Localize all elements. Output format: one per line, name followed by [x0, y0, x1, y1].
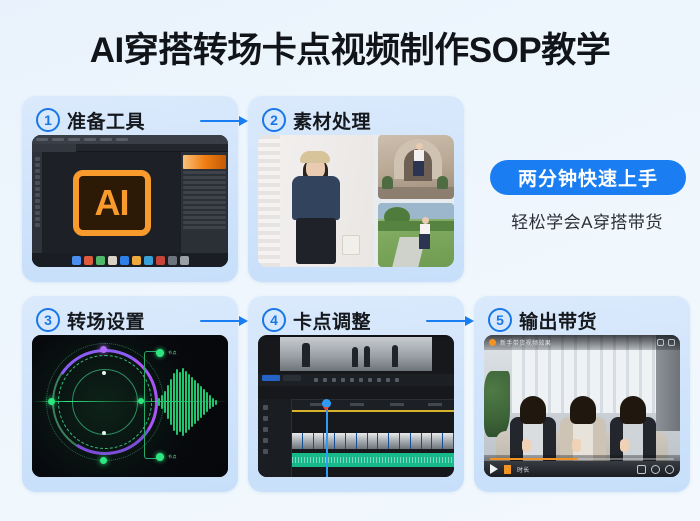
wave-bar [158, 398, 160, 406]
tool-icon [35, 169, 40, 173]
dock-app-icon [72, 256, 81, 265]
presenter-head [523, 399, 543, 422]
model-tote-bag [342, 235, 360, 255]
illustrator-window: AI [32, 135, 228, 267]
step-header-1: 1 准备工具 [32, 105, 228, 135]
filmstrip-frame [378, 433, 389, 449]
indoor-plant [484, 371, 510, 437]
presenter-hair [620, 396, 646, 424]
wave-bar [164, 391, 166, 413]
radar-node-bottom [100, 457, 107, 464]
waveform-node-bottom-label: 节点 [168, 454, 177, 460]
panel-row [183, 176, 226, 179]
ruler-tick [428, 403, 442, 406]
wave-bar [188, 374, 190, 430]
wave-bar [161, 395, 163, 409]
toolbar-icon[interactable] [386, 378, 390, 382]
wave-bar [173, 373, 175, 431]
ruler-tick [350, 403, 364, 406]
more-options-icon[interactable] [668, 339, 675, 346]
presenter-left [510, 399, 556, 463]
radar-marker [102, 431, 106, 435]
step-thumbnail-3: 节点 节点 [32, 335, 228, 477]
illustrator-toolbar [32, 152, 43, 253]
dock-app-icon [108, 256, 117, 265]
model-hat [300, 151, 330, 163]
step-card-2[interactable]: 2 素材处理 [248, 96, 464, 282]
figure-top [414, 150, 424, 161]
figure-skirt [419, 234, 430, 249]
thumbs-up-icon [572, 439, 581, 452]
silhouette [352, 347, 358, 367]
player-title: 新手带货视频效果 [500, 338, 551, 347]
step-number-5: 5 [488, 308, 512, 332]
potted-plant [437, 176, 448, 189]
illustrator-panels [180, 152, 228, 253]
audio-track-clip[interactable] [292, 453, 454, 467]
track-toggle-icon[interactable] [263, 416, 268, 421]
editor-preview-monitor [280, 337, 432, 371]
step-header-3: 3 转场设置 [32, 305, 228, 335]
tool-icon [35, 187, 40, 191]
wave-bar [203, 389, 205, 415]
beat-marker-icon [323, 407, 329, 411]
tool-icon [35, 193, 40, 197]
panel-row [183, 196, 226, 199]
filmstrip-frame [314, 433, 325, 449]
wave-bar [206, 392, 208, 412]
track-toggle-icon[interactable] [263, 427, 268, 432]
silhouette [302, 343, 310, 367]
player-top-icons[interactable] [657, 339, 675, 346]
thumbs-up-icon [522, 439, 531, 452]
progress-bar[interactable] [490, 458, 674, 460]
panel-row [183, 211, 226, 214]
arrow-step1-to-step2 [200, 115, 248, 127]
filmstrip-frame [400, 433, 411, 449]
dock-app-icon [168, 256, 177, 265]
presenter-right [610, 399, 656, 463]
waveform-node-top [156, 349, 164, 357]
step-header-5: 5 输出带货 [484, 305, 680, 335]
toolbar-icon[interactable] [332, 378, 336, 382]
time-label: 时长 [517, 465, 530, 474]
wave-bar [212, 398, 214, 407]
tool-icon [35, 175, 40, 179]
waveform-node-top-label: 节点 [168, 350, 177, 356]
outfit-photo-main [258, 135, 374, 267]
step-card-5[interactable]: 5 输出带货 [474, 296, 690, 492]
arrow-shaft [200, 320, 240, 322]
outfit-photo-architecture [378, 135, 454, 199]
step-label-2: 素材处理 [293, 107, 371, 134]
menu-item-glyph [84, 138, 96, 141]
tool-icon [35, 199, 40, 203]
arrow-head [239, 116, 248, 126]
document-tab [32, 144, 76, 152]
dock-app-icon [120, 256, 129, 265]
wave-bar [182, 368, 184, 436]
filmstrip-frame [368, 433, 379, 449]
step-label-4: 卡点调整 [293, 307, 371, 334]
figure-skirt [413, 161, 424, 176]
presenter-center [560, 399, 606, 463]
settings-icon[interactable] [637, 465, 646, 474]
illustrator-tabbar [32, 144, 228, 152]
step-header-2: 2 素材处理 [258, 105, 454, 135]
step-label-3: 转场设置 [67, 307, 145, 334]
toolbar-icon[interactable] [359, 378, 363, 382]
dock-app-icon [84, 256, 93, 265]
video-player[interactable]: 新手带货视频效果 时长 [484, 335, 680, 477]
radar-node-top [100, 346, 107, 353]
ruler-tick [390, 403, 404, 406]
model-figure [420, 217, 430, 249]
figure-head [422, 217, 429, 224]
menu-item-glyph [36, 138, 48, 141]
panel-row [183, 186, 226, 189]
dock-trash-icon [180, 256, 189, 265]
app-logo-icon [489, 339, 496, 346]
arrow-head [239, 316, 248, 326]
tool-icon [35, 217, 40, 221]
callout-subtitle: 轻松学会A穿搭带货 [474, 208, 700, 233]
track-header-panel[interactable] [258, 399, 292, 477]
wave-bar [170, 379, 172, 425]
step-thumbnail-4 [258, 335, 454, 477]
panel-row [183, 191, 226, 194]
wave-bar [194, 380, 196, 424]
video-track-clip[interactable] [292, 433, 454, 449]
pause-icon[interactable] [504, 465, 511, 474]
arrow-step3-to-step4 [200, 315, 248, 327]
wave-bar [185, 371, 187, 433]
panel-row [183, 216, 226, 219]
arrow-shaft [200, 120, 240, 122]
audio-waveform [158, 365, 224, 439]
arrow-head [465, 316, 474, 326]
radar-marker [102, 371, 106, 375]
model-figure [414, 143, 424, 179]
radar-node-left [48, 398, 55, 405]
step-thumbnail-2 [258, 135, 454, 267]
illustrator-canvas: AI [43, 152, 180, 253]
toolbar-icon[interactable] [314, 378, 318, 382]
step-number-3: 3 [36, 308, 60, 332]
tool-icon [35, 211, 40, 215]
step-number-2: 2 [262, 108, 286, 132]
waveform-node-bottom [156, 453, 164, 461]
toolbar-icon[interactable] [377, 378, 381, 382]
track-toggle-icon[interactable] [263, 405, 268, 410]
panel-row [183, 206, 226, 209]
dock-app-icon [132, 256, 141, 265]
fullscreen-icon[interactable] [665, 465, 674, 474]
step-label-5: 输出带货 [519, 307, 597, 334]
gradient-swatch [183, 155, 226, 169]
filmstrip-frame [303, 433, 314, 449]
outfit-photo-side-column [378, 135, 454, 267]
figure-top [420, 224, 430, 234]
panel-row [183, 201, 226, 204]
wave-bar [209, 395, 211, 409]
step-number-4: 4 [262, 308, 286, 332]
presenter-head [573, 399, 593, 422]
tool-icon [35, 157, 40, 161]
timeline-playhead[interactable] [326, 403, 328, 477]
wave-bar [179, 372, 181, 432]
filmstrip-frame [292, 433, 303, 449]
editor-tab[interactable] [283, 375, 301, 381]
step-thumbnail-1: AI [32, 135, 228, 267]
presenter-hair [520, 396, 546, 424]
arrow-shaft [426, 320, 466, 322]
progress-fill [490, 458, 578, 460]
macos-dock [32, 253, 228, 267]
filmstrip-frame [422, 433, 433, 449]
arrow-step4-to-step5 [426, 315, 474, 327]
illustrator-logo: AI [73, 170, 151, 236]
wave-bar [176, 369, 178, 435]
presenter-head [623, 399, 643, 422]
hedge [378, 221, 454, 231]
step-header-4: 4 卡点调整 [258, 305, 454, 335]
page-title: AI穿搭转场卡点视频制作SOP教学 [0, 22, 700, 73]
player-controls[interactable]: 时长 [484, 455, 680, 477]
wave-bar [200, 386, 202, 418]
wave-bar [191, 377, 193, 427]
menu-item-glyph [116, 138, 128, 141]
toolbar-icon[interactable] [395, 378, 399, 382]
silhouette [392, 345, 398, 367]
tool-icon [35, 205, 40, 209]
editor-tab-active[interactable] [262, 375, 280, 381]
step-number-1: 1 [36, 108, 60, 132]
filmstrip-frame [389, 433, 400, 449]
filmstrip-frame [411, 433, 422, 449]
thumbs-up-icon [620, 439, 629, 452]
illustrator-body: AI [32, 152, 228, 253]
panel-row [183, 226, 226, 229]
track-toggle-icon[interactable] [263, 438, 268, 443]
photo-backdrop [258, 135, 280, 267]
dock-app-icon [96, 256, 105, 265]
tool-icon [35, 223, 40, 227]
radar-ring-inner [72, 369, 138, 435]
filmstrip-frame [443, 433, 454, 449]
audio-waveform-strip [292, 457, 454, 463]
menu-item-glyph [68, 138, 80, 141]
step-label-1: 准备工具 [67, 107, 145, 134]
silhouette [364, 346, 370, 367]
menu-item-glyph [52, 138, 64, 141]
play-icon[interactable] [490, 464, 498, 474]
timeline-marker-line [292, 410, 454, 412]
outfit-photo-garden [378, 203, 454, 267]
toolbar-icon[interactable] [341, 378, 345, 382]
potted-plant [382, 176, 393, 189]
filmstrip-frame [335, 433, 346, 449]
dock-app-icon [156, 256, 165, 265]
step-thumbnail-5: 新手带货视频效果 时长 [484, 335, 680, 477]
editor-tab-row[interactable] [262, 375, 301, 381]
presenter-hair [570, 396, 596, 424]
illustrator-menubar [32, 135, 228, 144]
model-trousers [296, 218, 336, 264]
toolbar-icon[interactable] [368, 378, 372, 382]
player-topbar: 新手带货视频效果 [484, 335, 680, 350]
menu-item-glyph [100, 138, 112, 141]
dock-app-icon [144, 256, 153, 265]
figure-head [416, 143, 423, 150]
filmstrip-frame [357, 433, 368, 449]
wave-bar [215, 400, 217, 405]
panel-row [183, 221, 226, 224]
toolbar-icon[interactable] [350, 378, 354, 382]
highlight-badge: 两分钟快速上手 [490, 160, 686, 195]
toolbar-icon[interactable] [323, 378, 327, 382]
video-editor-window [258, 337, 454, 477]
wave-bar [197, 383, 199, 421]
transition-radar-graphic: 节点 节点 [32, 335, 228, 477]
wave-bar [167, 385, 169, 419]
filmstrip-frame [346, 433, 357, 449]
like-icon[interactable] [651, 465, 660, 474]
tool-icon [35, 181, 40, 185]
model-jacket [292, 176, 340, 220]
player-right-controls[interactable] [637, 465, 674, 474]
panel-row [183, 181, 226, 184]
outfit-photo-grid [258, 135, 454, 267]
share-icon[interactable] [657, 339, 664, 346]
filmstrip-frame [432, 433, 443, 449]
track-toggle-icon[interactable] [263, 449, 268, 454]
tool-icon [35, 163, 40, 167]
panel-row [183, 171, 226, 174]
